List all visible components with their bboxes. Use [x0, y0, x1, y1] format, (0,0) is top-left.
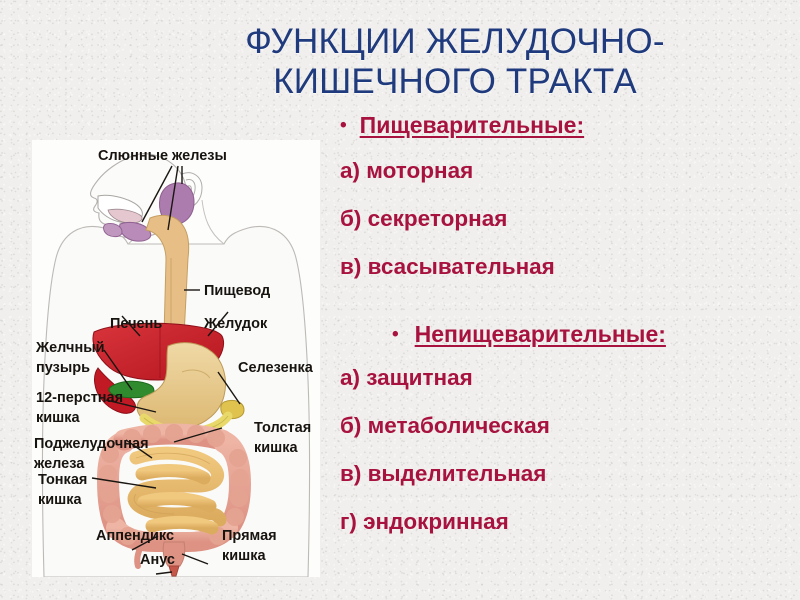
group-nondigestive-heading-label: Непищеварительные:	[415, 321, 666, 349]
label-colon-1: Толстая	[254, 420, 311, 436]
list-item: г) эндокринная	[340, 508, 795, 535]
label-pancreas-2: железа	[33, 456, 85, 472]
label-colon-2: кишка	[254, 440, 299, 456]
bullet-icon: •	[340, 116, 347, 135]
label-appendix: Аппендикс	[96, 528, 174, 544]
label-small-intestine-1: Тонкая	[38, 472, 87, 488]
label-gallbladder-1: Желчный	[35, 340, 105, 356]
title-line-2: КИШЕЧНОГО ТРАКТА	[120, 62, 790, 102]
label-rectum-2: кишка	[222, 548, 267, 564]
group-digestive: • Пищеварительные: а) моторная б) секрет…	[340, 112, 795, 280]
label-salivary-glands: Слюнные железы	[98, 148, 227, 164]
slide-canvas: ФУНКЦИИ ЖЕЛУДОЧНО- КИШЕЧНОГО ТРАКТА • Пи…	[0, 0, 800, 600]
label-pancreas-1: Поджелудочная	[34, 436, 149, 452]
group-digestive-heading: • Пищеварительные:	[340, 112, 795, 140]
list-item: в) всасывательная	[340, 253, 795, 280]
label-spleen: Селезенка	[238, 360, 314, 376]
list-item: а) моторная	[340, 157, 795, 184]
title-line-1: ФУНКЦИИ ЖЕЛУДОЧНО-	[120, 22, 790, 62]
label-esophagus: Пищевод	[204, 283, 270, 299]
group-nondigestive: • Непищеварительные: а) защитная б) мета…	[340, 321, 795, 536]
label-liver: Печень	[110, 316, 162, 332]
list-item: в) выделительная	[340, 460, 795, 487]
label-duodenum-2: кишка	[36, 410, 81, 426]
group-digestive-heading-label: Пищеварительные:	[360, 112, 584, 140]
label-stomach: Желудок	[203, 316, 268, 332]
group-nondigestive-heading: • Непищеварительные:	[340, 321, 795, 349]
label-anus: Анус	[140, 552, 175, 568]
label-small-intestine-2: кишка	[38, 492, 83, 508]
list-item: б) секреторная	[340, 205, 795, 232]
label-duodenum-1: 12-перстная	[36, 390, 123, 406]
label-rectum-1: Прямая	[222, 528, 277, 544]
functions-list: • Пищеварительные: а) моторная б) секрет…	[340, 112, 795, 535]
bullet-icon: •	[392, 325, 399, 344]
digestive-system-diagram: Слюнные железы Пищевод Печень Желудок Же…	[32, 140, 320, 577]
page-title: ФУНКЦИИ ЖЕЛУДОЧНО- КИШЕЧНОГО ТРАКТА	[120, 22, 790, 101]
list-item: а) защитная	[340, 364, 795, 391]
label-gallbladder-2: пузырь	[36, 360, 90, 376]
list-item: б) метаболическая	[340, 412, 795, 439]
